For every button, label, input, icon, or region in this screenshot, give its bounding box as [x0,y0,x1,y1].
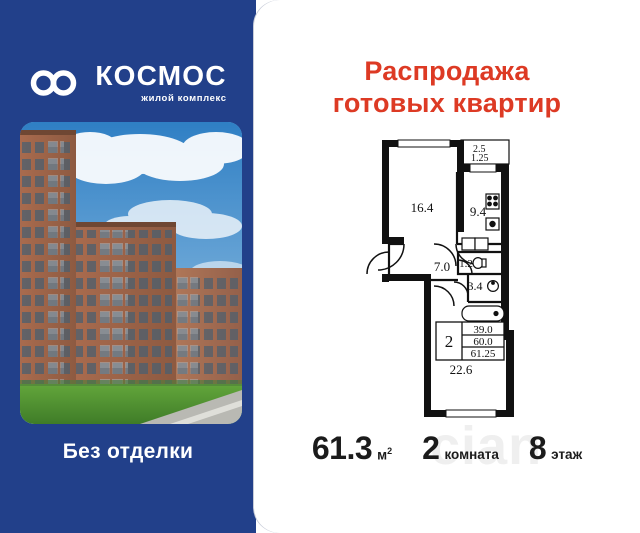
summary-rooms: 2 комната [422,430,499,467]
info-rooms: 2 [445,332,454,351]
promo-headline-line1: Распродажа [254,56,640,88]
summary-floor: 8 этаж [529,430,582,467]
building-photo [20,122,242,424]
promo-headline: Распродажа готовых квартир [254,56,640,120]
room-label-bedroom: 22.6 [450,362,473,377]
brand-logo: КОСМОС жилой комплекс [0,62,256,104]
info-living-area: 39.0 [473,324,493,336]
floorplan: 16.4 9.4 7.0 1.2 3.4 22.6 2.5 1.25 2 39.… [358,134,534,426]
listing-summary: 61.3 м2 2 комната 8 этаж [254,430,640,476]
room-label-wc: 1.2 [459,258,473,270]
info-usable-area: 60.0 [473,336,493,348]
summary-area-value: 61.3 [312,430,372,467]
left-blue-panel: КОСМОС жилой комплекс [0,0,256,533]
summary-floor-unit: этаж [551,447,582,462]
balcony-area-reduced: 1.25 [471,153,489,164]
room-label-living: 16.4 [411,200,434,215]
summary-area-unit: м2 [377,446,392,463]
brand-name: КОСМОС [95,62,226,90]
summary-area: 61.3 м2 [312,430,392,467]
summary-rooms-value: 2 [422,430,439,467]
listing-poster: КОСМОС жилой комплекс [0,0,640,533]
room-label-kitchen: 9.4 [470,204,487,219]
infinity-icon [29,68,85,98]
summary-floor-value: 8 [529,430,546,467]
promo-headline-line2: готовых квартир [254,88,640,120]
info-total-area: 61.25 [471,348,496,360]
brand-text: КОСМОС жилой комплекс [95,62,226,104]
room-label-bath: 3.4 [468,279,483,293]
brand-subtitle: жилой комплекс [141,93,226,104]
summary-rooms-unit: комната [444,447,498,462]
finish-caption: Без отделки [0,440,256,464]
room-label-hall: 7.0 [434,259,450,274]
